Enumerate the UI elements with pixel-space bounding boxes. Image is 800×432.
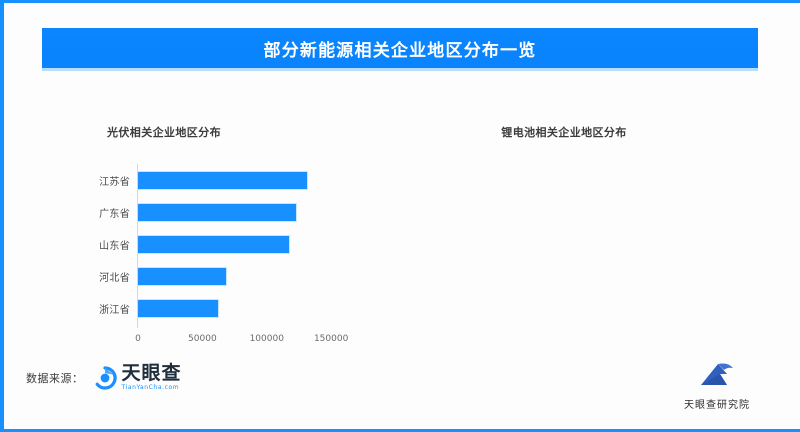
tianyancha-logo: 天眼查 TianYanCha.com <box>92 364 182 391</box>
bar-category-label: 河北省 <box>78 269 130 284</box>
chart-panel-lithium-battery: 锂电池相关企业地区分布 广东省江苏省湖南省山东省安徽省 020004000600… <box>390 78 790 348</box>
infographic-poster: 部分新能源相关企业地区分布一览 光伏相关企业地区分布 江苏省广东省山东省河北省浙… <box>0 0 800 432</box>
tianyancha-eye-icon <box>92 365 118 391</box>
footer: 数据来源： 天眼查 TianYanCha.com <box>0 348 800 432</box>
chart-plot-photovoltaic: 江苏省广东省山东省河北省浙江省 050000100000150000 <box>78 164 348 334</box>
tianyancha-brand-en: TianYanCha.com <box>122 385 182 391</box>
bar-row: 河北省 <box>78 260 348 292</box>
institute-block: 天眼查研究院 <box>662 358 772 411</box>
x-axis-ticks: 050000100000150000 <box>78 330 348 350</box>
bar-category-label: 江苏省 <box>78 173 130 188</box>
title-banner-underglow <box>42 68 758 71</box>
charts-container: 光伏相关企业地区分布 江苏省广东省山东省河北省浙江省 0500001000001… <box>0 78 800 348</box>
bar-category-label: 山东省 <box>78 237 130 252</box>
bar-segment <box>138 235 290 254</box>
x-axis-tick-label: 150000 <box>314 334 348 344</box>
bar-category-label: 浙江省 <box>78 301 130 316</box>
chart-title-lithium-battery: 锂电池相关企业地区分布 <box>390 124 790 140</box>
bar-row: 广东省 <box>78 196 348 228</box>
bar-segment <box>138 299 219 318</box>
page-title: 部分新能源相关企业地区分布一览 <box>264 36 537 61</box>
tianyancha-brand-cn: 天眼查 <box>122 364 182 383</box>
bar-category-label: 广东省 <box>78 205 130 220</box>
bar-rows: 江苏省广东省山东省河北省浙江省 <box>78 164 348 328</box>
x-axis-tick-label: 100000 <box>250 334 284 344</box>
bar-row: 江苏省 <box>78 164 348 196</box>
title-banner: 部分新能源相关企业地区分布一览 <box>42 28 758 68</box>
x-axis-tick-label: 0 <box>135 334 141 344</box>
x-axis-tick-label: 50000 <box>188 334 217 344</box>
bar-segment <box>138 203 297 222</box>
data-source-block: 数据来源： 天眼查 TianYanCha.com <box>26 364 182 391</box>
bar-row: 浙江省 <box>78 292 348 324</box>
data-source-label: 数据来源： <box>26 370 84 386</box>
bar-row: 山东省 <box>78 228 348 260</box>
bar-segment <box>138 267 227 286</box>
top-accent-stripe <box>0 0 800 3</box>
chart-panel-photovoltaic: 光伏相关企业地区分布 江苏省广东省山东省河北省浙江省 0500001000001… <box>0 78 400 348</box>
tianyancha-wordmark: 天眼查 TianYanCha.com <box>122 364 182 391</box>
chart-title-photovoltaic: 光伏相关企业地区分布 <box>0 124 400 140</box>
bar-segment <box>138 171 308 190</box>
institute-name: 天眼查研究院 <box>662 396 772 411</box>
institute-logo-icon <box>694 377 740 396</box>
